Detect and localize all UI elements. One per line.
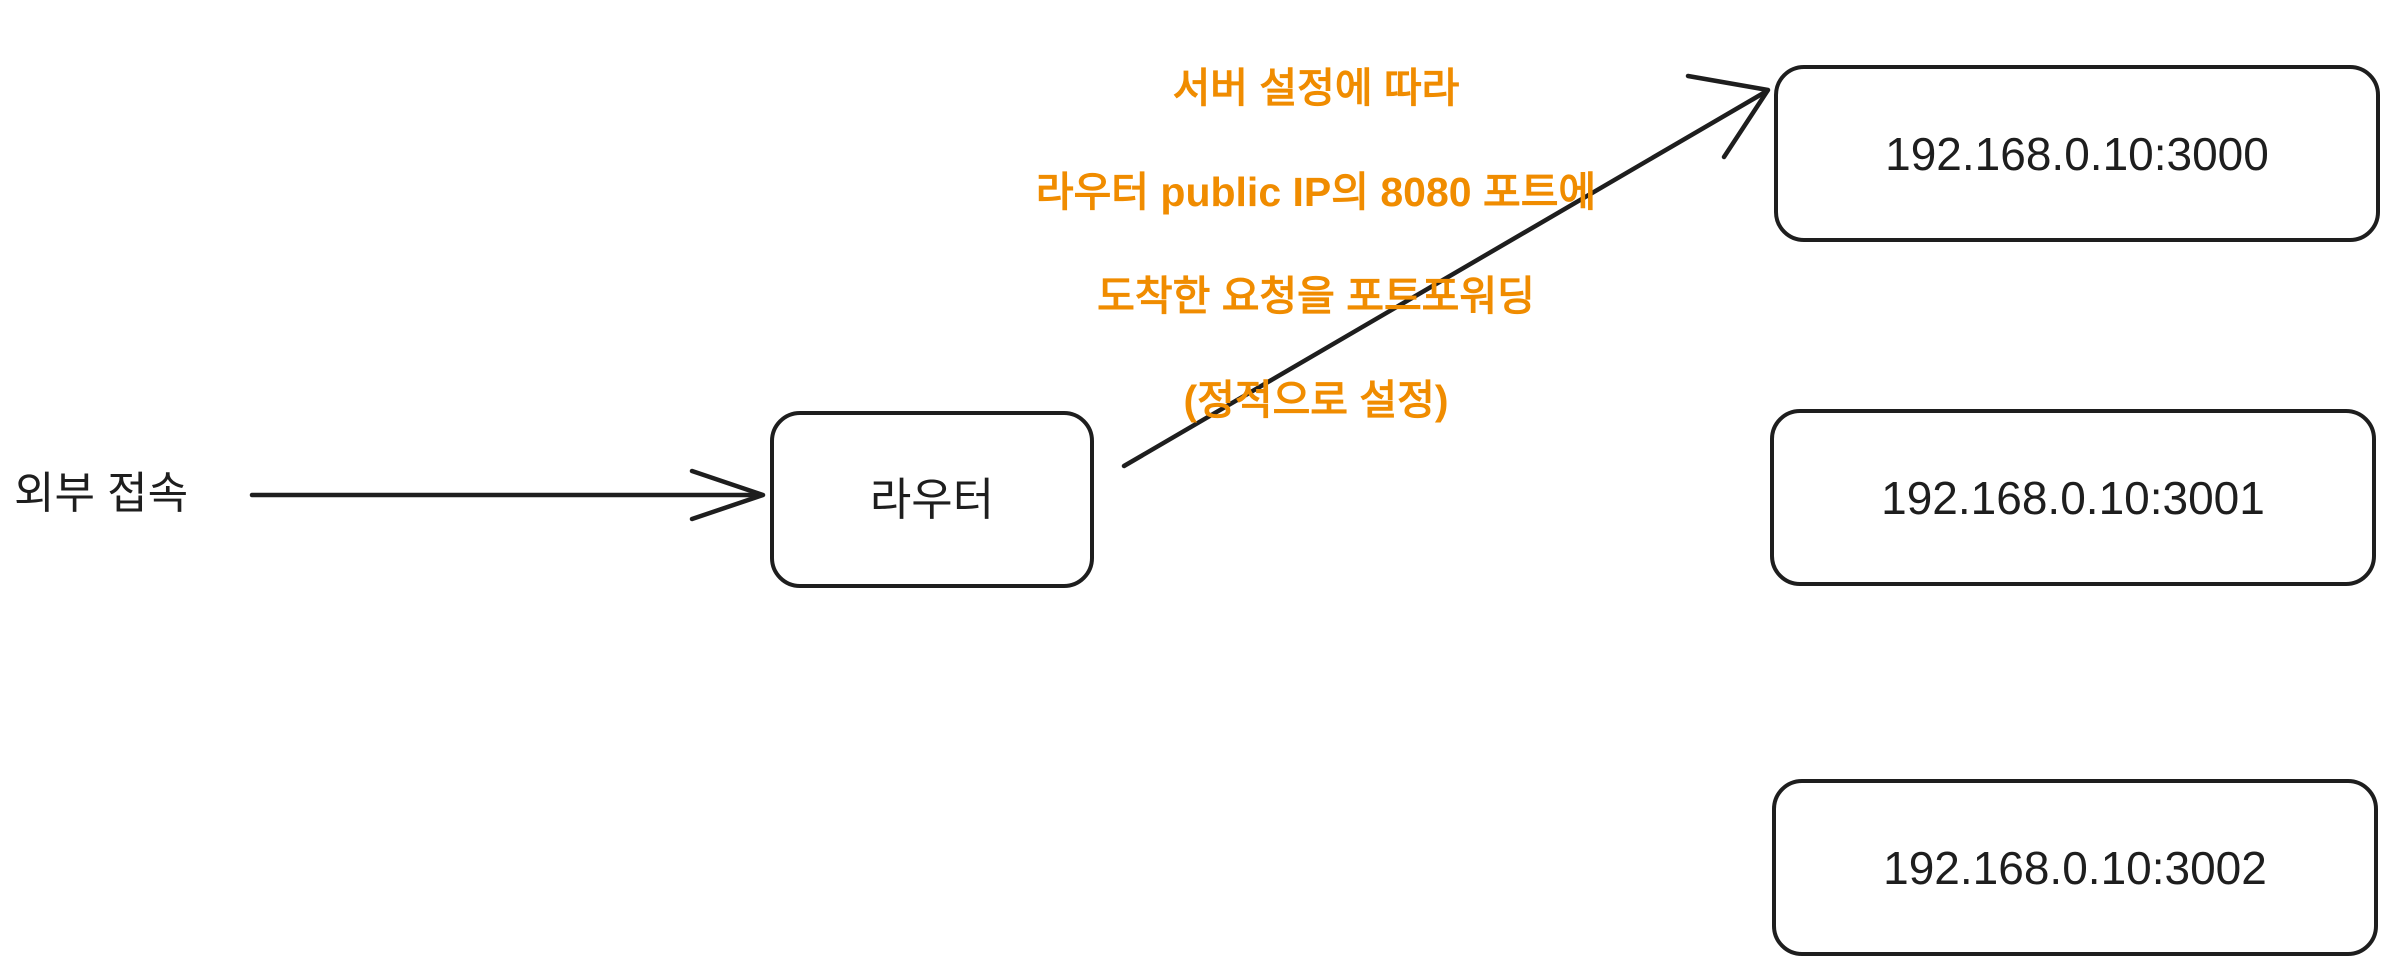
server-node-3002[interactable]: 192.168.0.10:3002 bbox=[1772, 779, 2378, 956]
router-node[interactable]: 라우터 bbox=[770, 411, 1094, 588]
server-node-3001[interactable]: 192.168.0.10:3001 bbox=[1770, 409, 2376, 586]
annotation-line-2: 라우터 public IP의 8080 포트에 bbox=[905, 166, 1727, 218]
router-node-label: 라우터 bbox=[870, 477, 994, 522]
server-node-3000[interactable]: 192.168.0.10:3000 bbox=[1774, 65, 2380, 242]
server-node-label: 192.168.0.10:3001 bbox=[1881, 475, 2265, 521]
annotation-line-3: 도착한 요청을 포트포워딩 bbox=[905, 270, 1727, 322]
diagram-canvas: 서버 설정에 따라 라우터 public IP의 8080 포트에 도착한 요청… bbox=[0, 0, 2397, 977]
edge-external-to-router bbox=[252, 471, 763, 519]
annotation-line-1: 서버 설정에 따라 bbox=[905, 62, 1727, 114]
server-node-label: 192.168.0.10:3000 bbox=[1885, 131, 2269, 177]
portforward-annotation: 서버 설정에 따라 라우터 public IP의 8080 포트에 도착한 요청… bbox=[905, 10, 1727, 479]
external-access-label: 외부 접속 bbox=[14, 472, 188, 516]
server-node-label: 192.168.0.10:3002 bbox=[1883, 845, 2267, 891]
